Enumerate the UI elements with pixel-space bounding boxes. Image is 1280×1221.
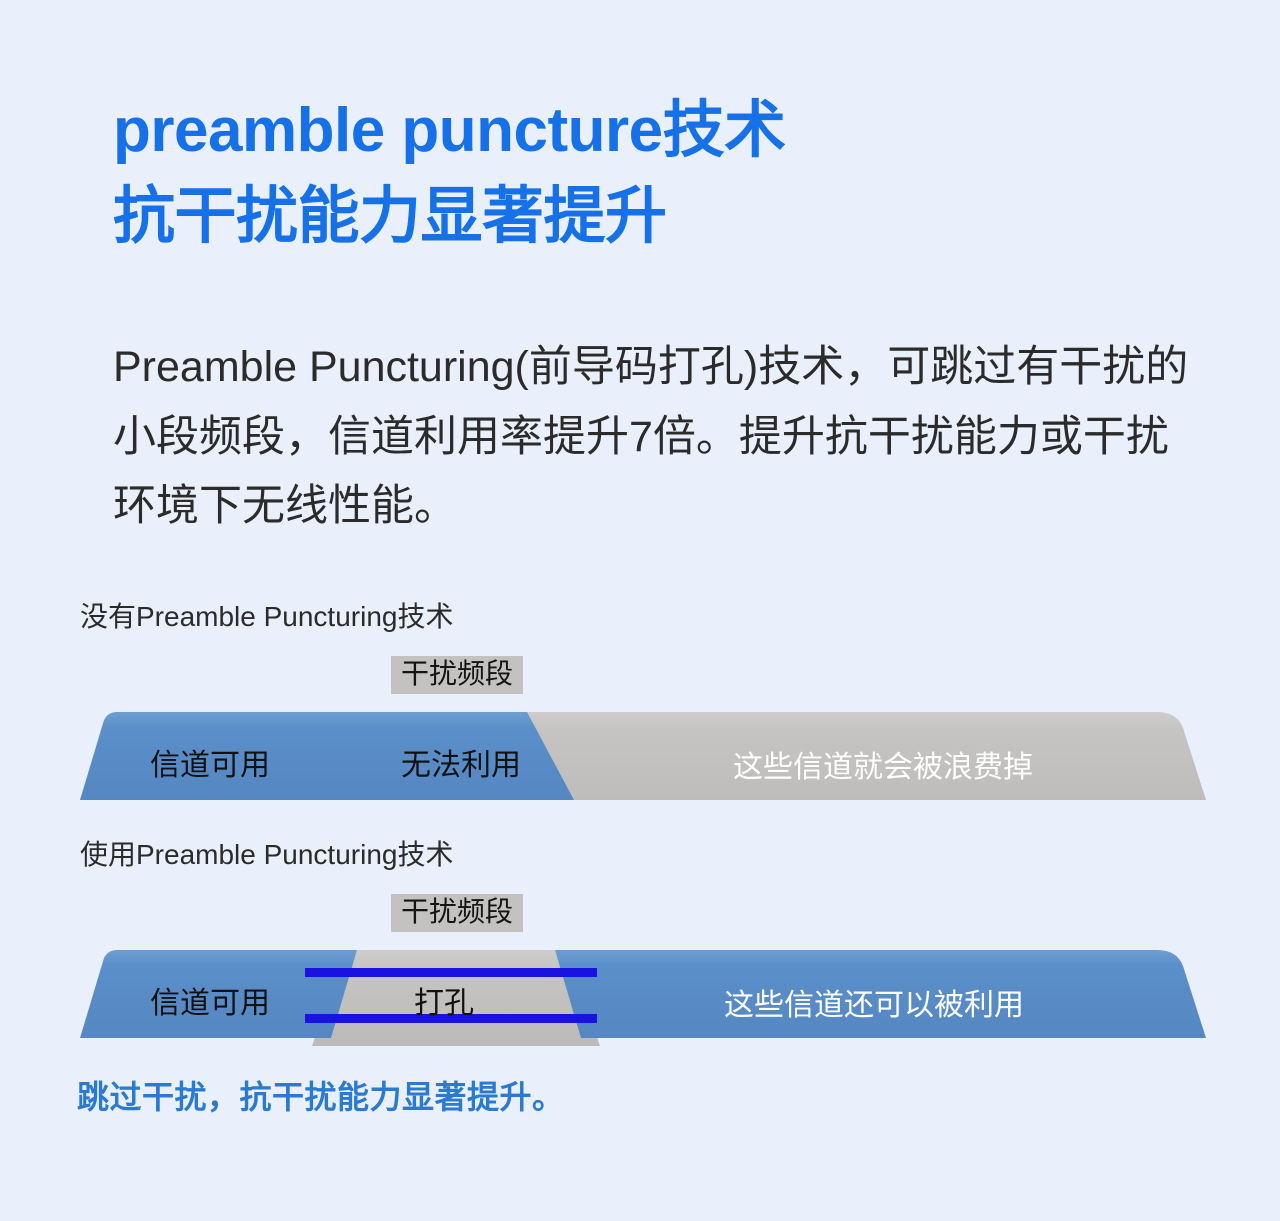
page-title-line-2: 抗干扰能力显著提升: [113, 174, 1113, 260]
intro-paragraph: Preamble Puncturing(前导码打孔)技术，可跳过有干扰的小段频段…: [113, 333, 1191, 542]
band-graphic-2: [0, 942, 1280, 1054]
puncture-marker-line-bottom: [305, 1014, 597, 1023]
diagram-1-caption: 没有Preamble Puncturing技术: [80, 600, 453, 634]
page-title-line-1: preamble puncture技术: [113, 96, 786, 165]
segment-available-shape: [80, 712, 574, 800]
band-graphic-1: [0, 704, 1280, 816]
poster-root: preamble puncture技术抗干扰能力显著提升 Preamble Pu…: [0, 0, 1280, 1221]
diagram-2-caption: 使用Preamble Puncturing技术: [80, 838, 453, 872]
segment-still-usable-shape: [555, 950, 1206, 1038]
page-title: preamble puncture技术抗干扰能力显著提升: [113, 88, 1113, 259]
interference-band-label-2: 干扰频段: [391, 894, 523, 932]
segment-punctured-shape: [312, 950, 600, 1046]
interference-band-label-1: 干扰频段: [391, 656, 523, 694]
band-2-svg: [0, 942, 1280, 1054]
puncture-marker-line-top: [305, 968, 597, 977]
summary-note: 跳过干扰，抗干扰能力显著提升。: [77, 1072, 565, 1118]
band-1-svg: [0, 704, 1280, 816]
segment-available-shape-2: [80, 950, 357, 1038]
